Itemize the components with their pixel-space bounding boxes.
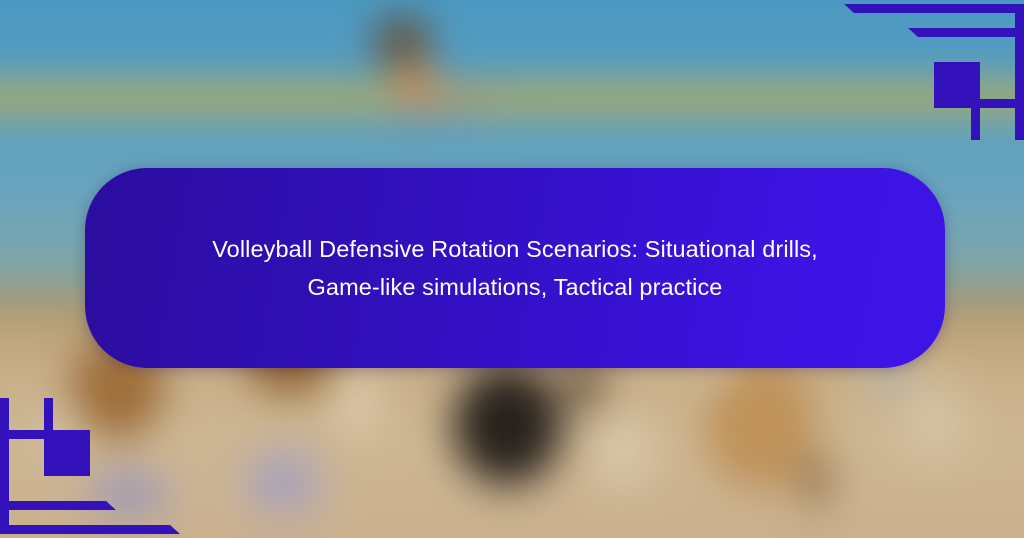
corner-ornament-top-right	[840, 0, 1024, 140]
corner-ornament-bottom-left	[0, 398, 184, 538]
banner-title: Volleyball Defensive Rotation Scenarios:…	[175, 230, 855, 306]
player-figure-background	[351, 3, 510, 146]
title-card: Volleyball Defensive Rotation Scenarios:…	[85, 168, 945, 368]
banner-image: Volleyball Defensive Rotation Scenarios:…	[0, 0, 1024, 538]
